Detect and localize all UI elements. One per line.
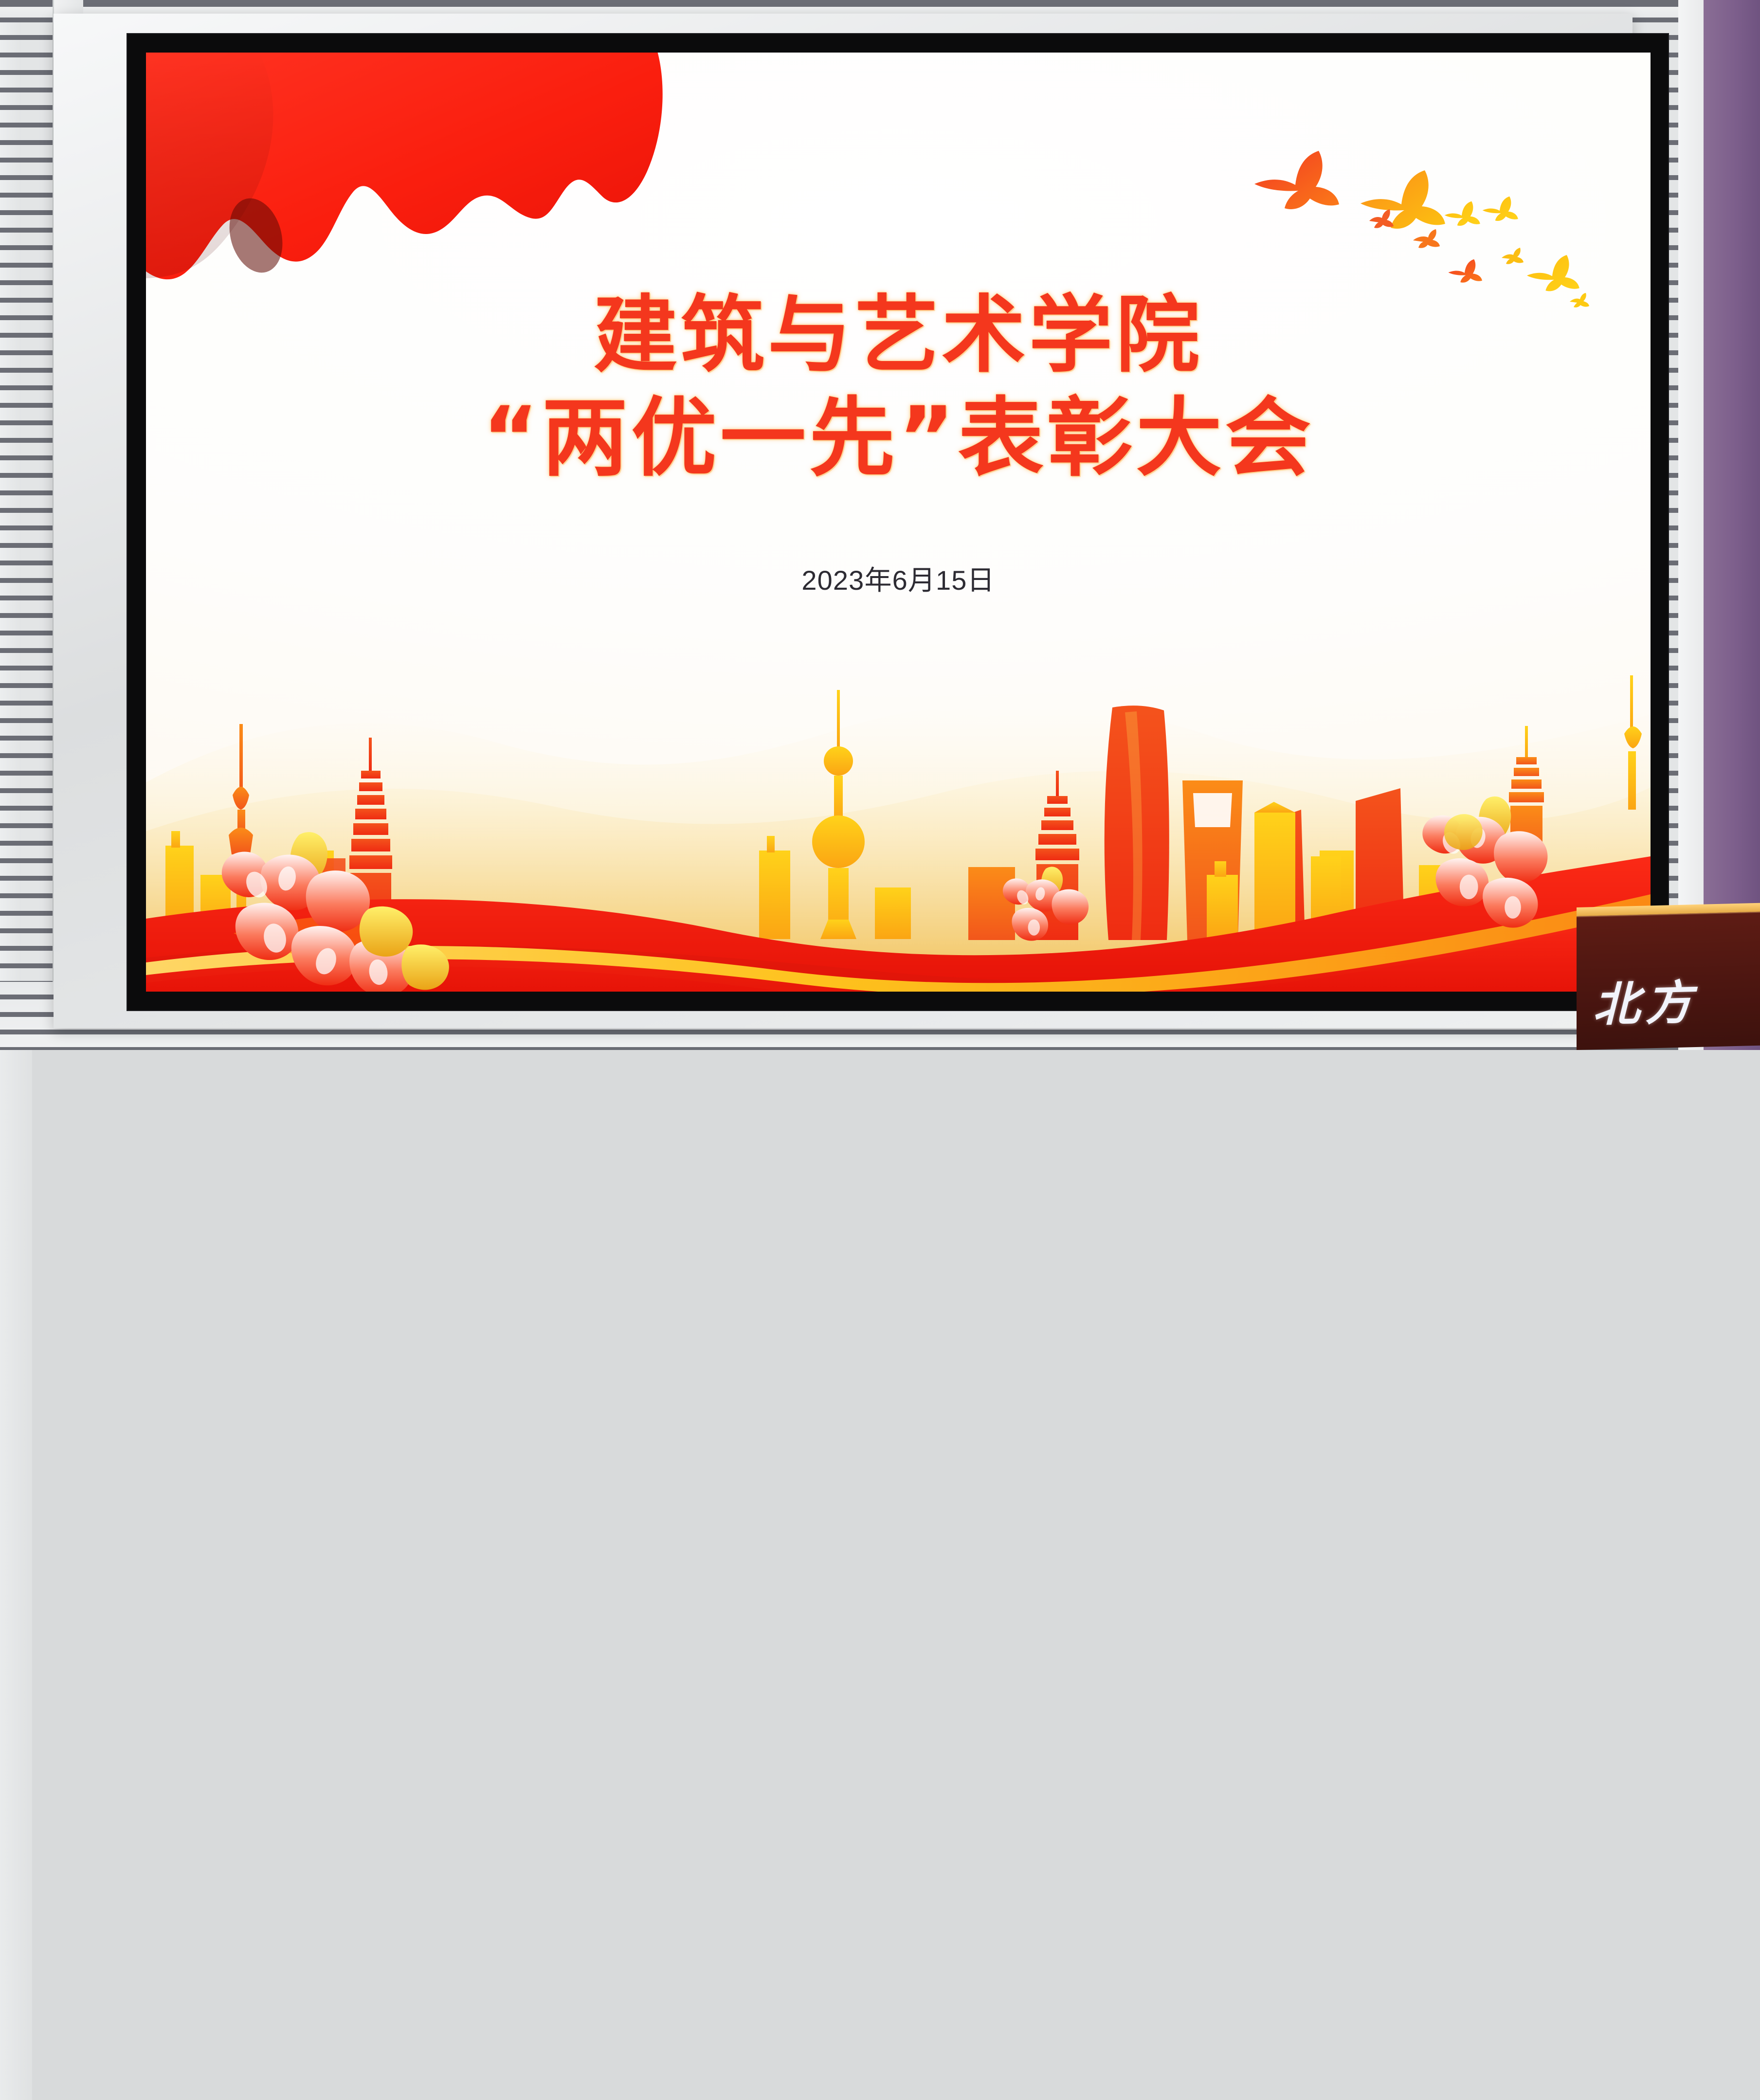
wall-panel-right: [1678, 0, 1704, 1050]
conference-room: 建筑与艺术学院 “两优一先”表彰大会 2023年6月15日: [0, 0, 1760, 1050]
presentation-screen[interactable]: 建筑与艺术学院 “两优一先”表彰大会 2023年6月15日: [146, 53, 1651, 992]
display-frame: 建筑与艺术学院 “两优一先”表彰大会 2023年6月15日: [54, 14, 1633, 1028]
display-bezel: 建筑与艺术学院 “两优一先”表彰大会 2023年6月15日: [127, 33, 1669, 1011]
wall-panel-accent-purple: [1704, 0, 1760, 1050]
podium-sign-text: 北方: [1593, 964, 1698, 1034]
slide-title-block: 建筑与艺术学院 “两优一先”表彰大会: [146, 286, 1651, 489]
slide-title-line-2: “两优一先”表彰大会: [146, 388, 1651, 489]
slide-date-text: 2023年6月15日: [146, 559, 1651, 598]
podium: 北方: [1577, 907, 1760, 1050]
wall-panel-left-inner: [0, 1050, 32, 2100]
slide-title-line-1: 建筑与艺术学院: [146, 286, 1651, 385]
slide-canvas: 建筑与艺术学院 “两优一先”表彰大会 2023年6月15日: [146, 53, 1651, 992]
red-flag-icon: [146, 53, 715, 322]
skyline-decoration: [146, 622, 1651, 992]
